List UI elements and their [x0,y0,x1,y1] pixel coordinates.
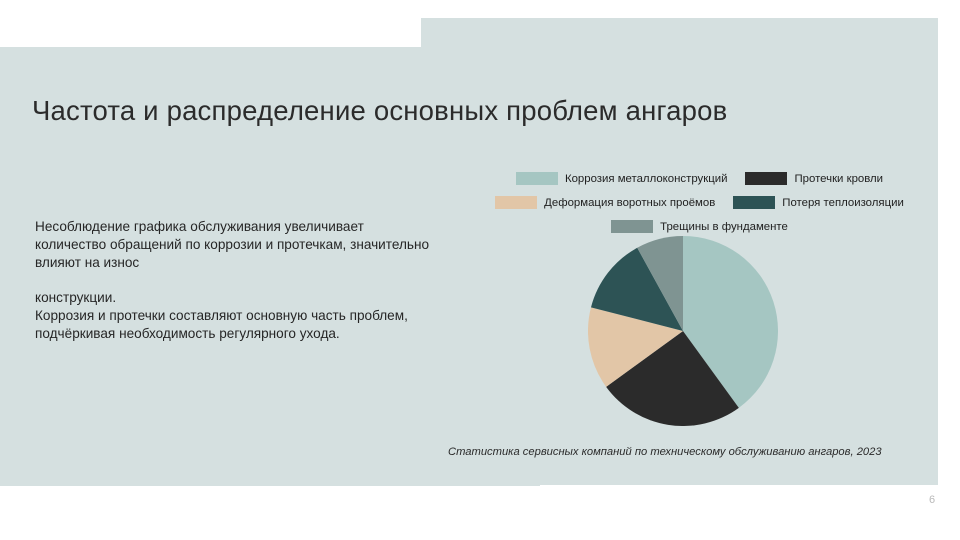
page-title: Частота и распределение основных проблем… [32,94,732,127]
legend-swatch-foundation-cracks-icon [611,220,653,233]
legend-swatch-corrosion-icon [516,172,558,185]
legend-row-3: Трещины в фундаменте [487,216,912,237]
legend-swatch-heat-loss-icon [733,196,775,209]
legend-item-roof-leaks[interactable]: Протечки кровли [745,172,883,185]
legend-row-2: Деформация воротных проёмов Потеря тепло… [487,192,912,213]
slide-page-number: 6 [929,494,935,506]
legend-label-heat-loss: Потеря теплоизоляции [782,197,904,209]
pie-chart-svg [588,236,778,426]
background-notch [540,486,600,540]
legend-swatch-gate-deformation-icon [495,196,537,209]
legend-label-gate-deformation: Деформация воротных проёмов [544,197,715,209]
body-paragraph-2: конструкции. [35,289,435,307]
legend-swatch-roof-leaks-icon [745,172,787,185]
legend-item-heat-loss[interactable]: Потеря теплоизоляции [733,196,904,209]
legend-label-roof-leaks: Протечки кровли [794,173,883,185]
legend-item-corrosion[interactable]: Коррозия металлоконструкций [516,172,728,185]
body-paragraph-1: Несоблюдение графика обслуживания увелич… [35,218,435,272]
body-paragraph-3: Коррозия и протечки составляют основную … [35,307,435,343]
legend-item-foundation-cracks[interactable]: Трещины в фундаменте [611,220,788,233]
chart-source-caption: Статистика сервисных компаний по техниче… [448,446,882,458]
body-text-block: Несоблюдение графика обслуживания увелич… [35,218,435,343]
legend-item-gate-deformation[interactable]: Деформация воротных проёмов [495,196,715,209]
slide-canvas: Частота и распределение основных проблем… [0,0,960,540]
legend-label-corrosion: Коррозия металлоконструкций [565,173,728,185]
legend-label-foundation-cracks: Трещины в фундаменте [660,221,788,233]
chart-legend: Коррозия металлоконструкций Протечки кро… [487,168,912,240]
pie-chart[interactable] [588,236,778,426]
legend-row-1: Коррозия металлоконструкций Протечки кро… [487,168,912,189]
